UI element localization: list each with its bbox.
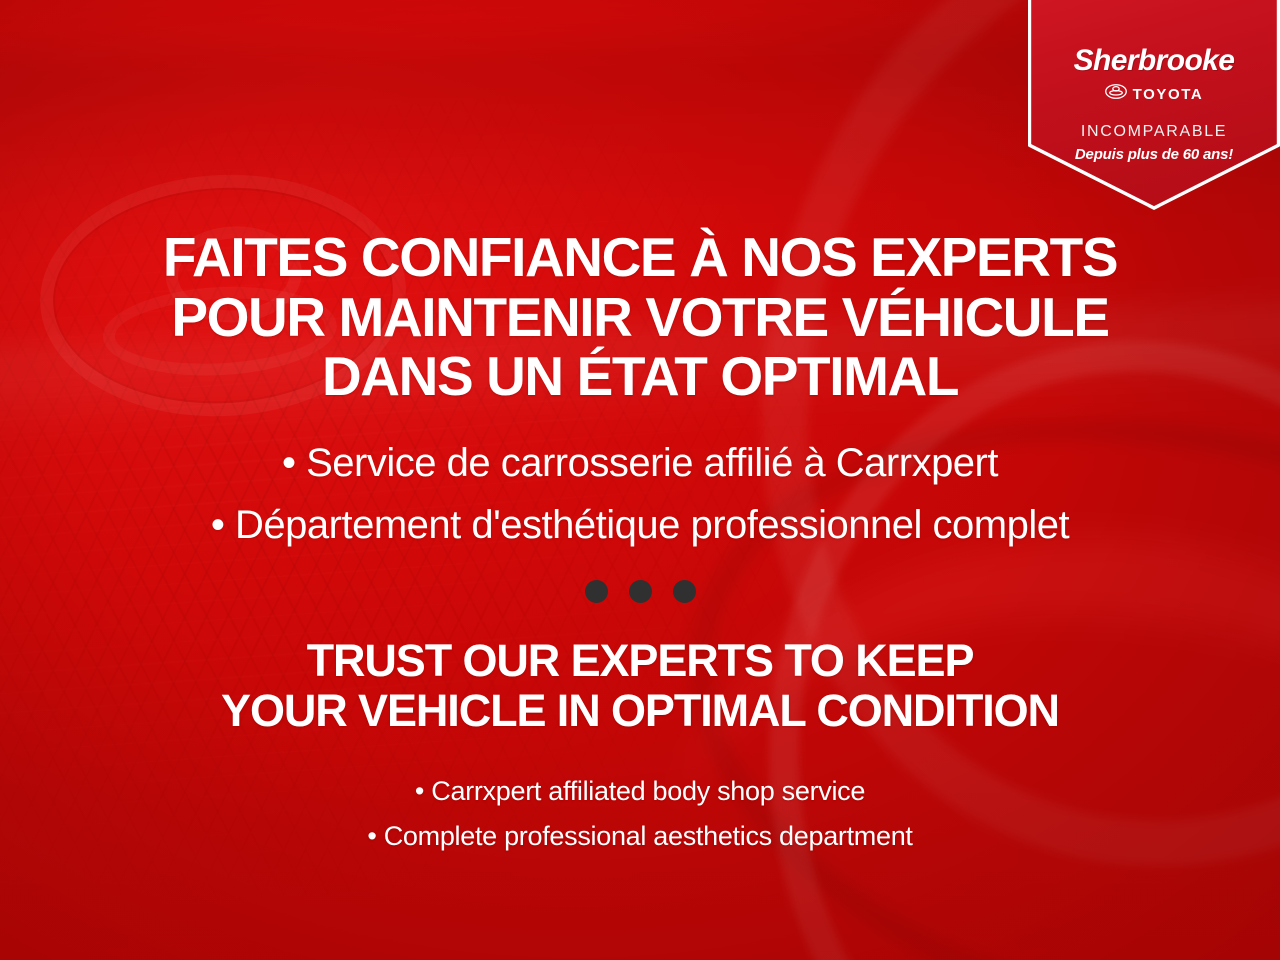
divider-dot [629,580,652,603]
headline-english-line-1: TRUST OUR EXPERTS TO KEEP [0,636,1280,686]
headline-french: FAITES CONFIANCE À NOS EXPERTS POUR MAIN… [0,228,1280,407]
headline-english: TRUST OUR EXPERTS TO KEEP YOUR VEHICLE I… [0,636,1280,737]
headline-french-line-1: FAITES CONFIANCE À NOS EXPERTS [0,228,1280,288]
divider-dot [585,580,608,603]
list-item: • Complete professional aesthetics depar… [0,814,1280,859]
promo-banner: Sherbrooke TOYOTA INCOMPARABLE Depuis pl… [0,0,1280,960]
bullet-list-french: • Service de carrosserie affilié à Carrx… [0,432,1280,556]
list-item: • Service de carrosserie affilié à Carrx… [0,432,1280,494]
headline-french-line-2: POUR MAINTENIR VOTRE VÉHICULE [0,288,1280,348]
three-dots-icon [0,580,1280,603]
banner-content: FAITES CONFIANCE À NOS EXPERTS POUR MAIN… [0,0,1280,960]
list-item: • Carrxpert affiliated body shop service [0,769,1280,814]
bullet-list-english: • Carrxpert affiliated body shop service… [0,769,1280,858]
headline-english-line-2: YOUR VEHICLE IN OPTIMAL CONDITION [0,686,1280,736]
headline-french-line-3: DANS UN ÉTAT OPTIMAL [0,347,1280,407]
list-item: • Département d'esthétique professionnel… [0,494,1280,556]
divider-dot [673,580,696,603]
